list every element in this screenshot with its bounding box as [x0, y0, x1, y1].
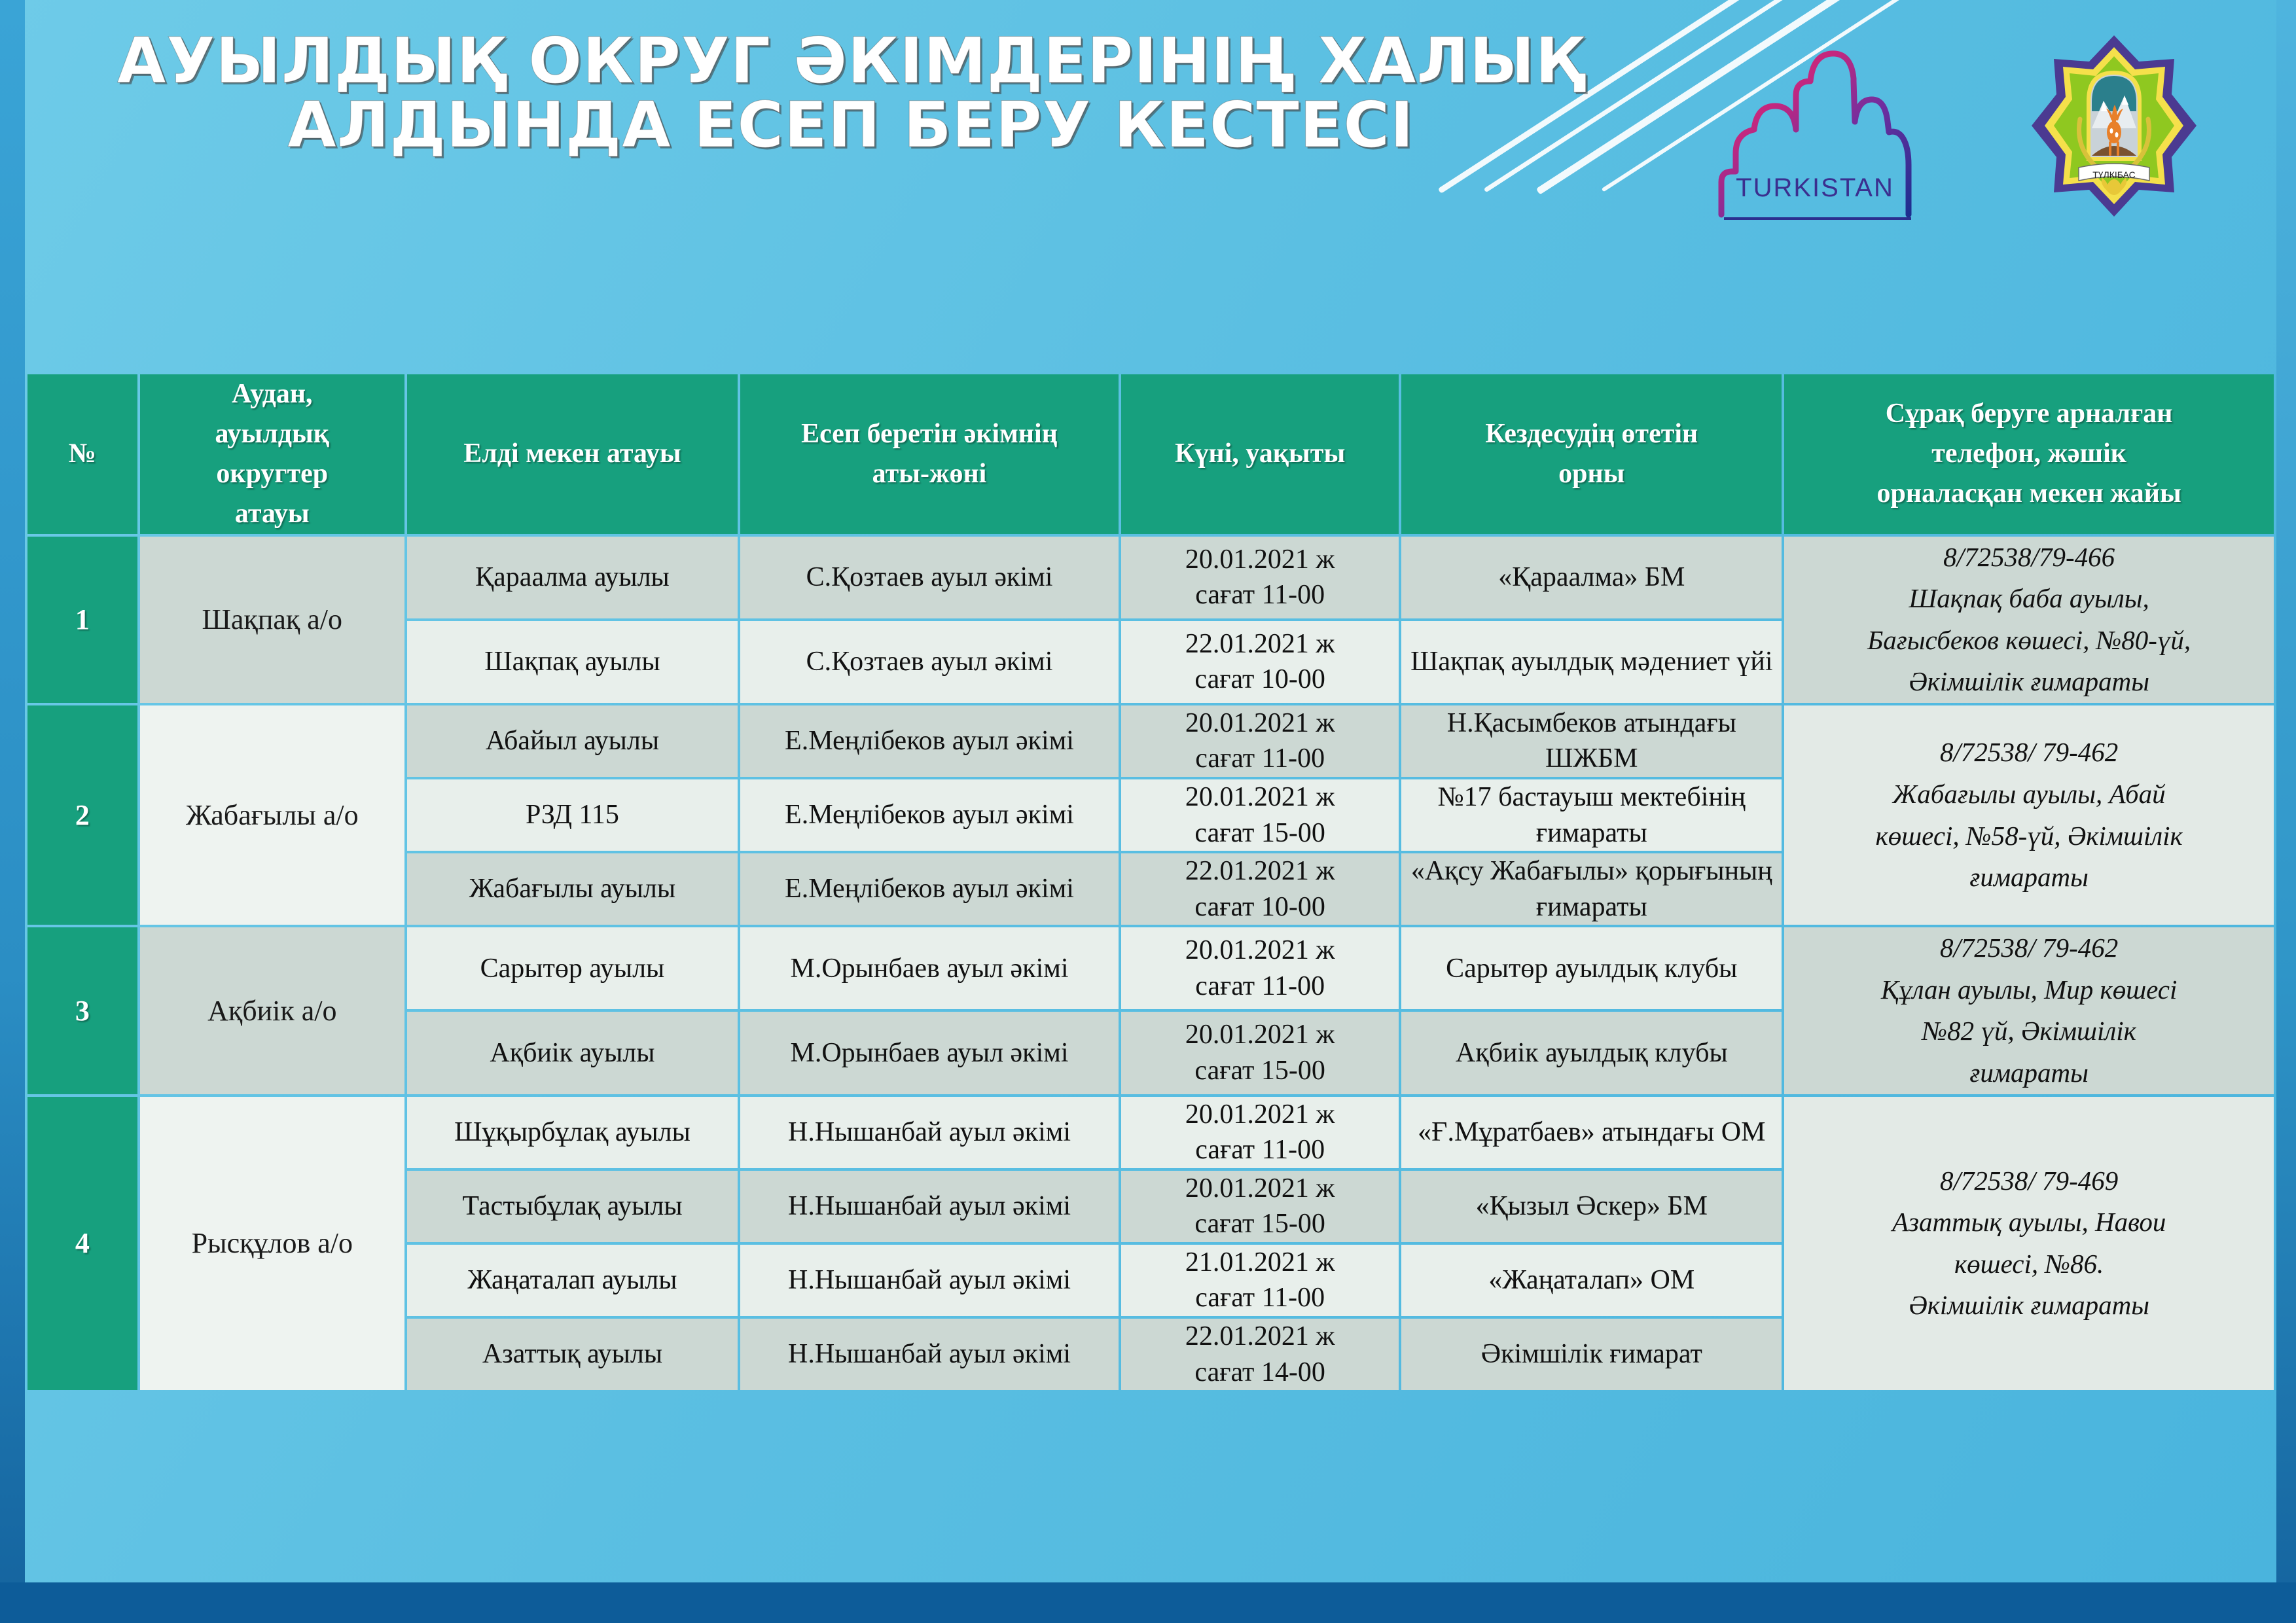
date-line: 20.01.2021 ж	[1185, 1099, 1335, 1130]
date-line: 22.01.2021 ж	[1185, 856, 1335, 886]
date-time-cell: 20.01.2021 жсағат 11-00	[1121, 1097, 1399, 1168]
time-line: сағат 11-00	[1195, 580, 1325, 610]
phone-number: 8/72538/ 79-469	[1940, 1166, 2118, 1196]
col-header-place-l1: Кездесудің өтетін	[1485, 419, 1698, 449]
phone-number: 8/72538/ 79-462	[1940, 737, 2118, 767]
meeting-place-cell: «Қараалма» БМ	[1401, 537, 1782, 618]
settlement-cell: РЗД 115	[407, 779, 738, 851]
time-line: сағат 10-00	[1194, 664, 1325, 694]
date-line: 20.01.2021 ж	[1185, 1020, 1335, 1050]
page-title-line-2: АЛДЫНДА ЕСЕП БЕРУ КЕСТЕСІ	[59, 94, 1643, 158]
settlement-cell: Азаттық ауылы	[407, 1319, 738, 1390]
col-header-okrug-l1: Аудан,	[232, 379, 313, 409]
date-line: 22.01.2021 ж	[1185, 1321, 1335, 1351]
time-line: сағат 15-00	[1194, 1056, 1325, 1086]
date-line: 20.01.2021 ж	[1185, 935, 1335, 965]
phone-address-cell: 8/72538/ 79-462Жабағылы ауылы, Абайкөшес…	[1784, 705, 2274, 925]
row-number-cell: 4	[27, 1097, 137, 1391]
settlement-cell: Абайыл ауылы	[407, 705, 738, 777]
meeting-place-cell: Әкімшілік ғимарат	[1401, 1319, 1782, 1390]
meeting-place-cell: «Қызыл Әскер» БМ	[1401, 1171, 1782, 1242]
settlement-cell: Қараалма ауылы	[407, 537, 738, 618]
okrug-name-cell: Шақпақ а/о	[140, 537, 404, 703]
date-time-cell: 21.01.2021 жсағат 11-00	[1121, 1245, 1399, 1316]
col-header-place: Кездесудің өтетін орны	[1401, 374, 1782, 534]
col-header-okrug-l4: атауы	[235, 499, 310, 529]
date-line: 20.01.2021 ж	[1185, 708, 1335, 738]
col-header-okrug-l3: округтер	[216, 459, 328, 489]
address-line: ғимараты	[1969, 1058, 2089, 1088]
address-line: Азаттық ауылы, Навои	[1892, 1207, 2166, 1237]
time-line: сағат 15-00	[1194, 818, 1325, 848]
date-time-cell: 22.01.2021 жсағат 10-00	[1121, 853, 1399, 925]
date-line: 20.01.2021 ж	[1185, 782, 1335, 812]
akim-name-cell: С.Қозтаев ауыл әкімі	[740, 537, 1119, 618]
phone-number: 8/72538/79-466	[1943, 542, 2115, 572]
time-line: сағат 11-00	[1195, 1135, 1325, 1165]
col-header-phone-l3: орналасқан мекен жайы	[1877, 478, 2181, 508]
okrug-name-cell: Ақбиік а/о	[140, 927, 404, 1094]
page-title: АУЫЛДЫҚ ОКРУГ ӘКІМДЕРІНІҢ ХАЛЫҚ АЛДЫНДА …	[59, 29, 1643, 158]
table-row: 4Рысқұлов а/оШұқырбұлақ ауылыН.Нышанбай …	[27, 1097, 2274, 1168]
col-header-phone-l2: телефон, жәшік	[1931, 438, 2126, 469]
phone-address-cell: 8/72538/79-466Шақпақ баба ауылы,Бағысбек…	[1784, 537, 2274, 703]
time-line: сағат 10-00	[1194, 892, 1325, 922]
date-time-cell: 20.01.2021 жсағат 15-00	[1121, 1171, 1399, 1242]
akim-name-cell: М.Орынбаев ауыл әкімі	[740, 927, 1119, 1009]
phone-address-cell: 8/72538/ 79-462Құлан ауылы, Мир көшесі№8…	[1784, 927, 2274, 1094]
settlement-cell: Шұқырбұлақ ауылы	[407, 1097, 738, 1168]
report-schedule-table: № Аудан, ауылдық округтер атауы Елді мек…	[25, 372, 2276, 1393]
address-line: ғимараты	[1969, 862, 2089, 892]
time-line: сағат 14-00	[1194, 1357, 1325, 1387]
meeting-place-cell: №17 бастауыш мектебінің ғимараты	[1401, 779, 1782, 851]
svg-text:ТҮЛКІБАС: ТҮЛКІБАС	[2092, 169, 2136, 180]
col-header-number: №	[27, 374, 137, 534]
meeting-place-cell: «Жаңаталап» ОМ	[1401, 1245, 1782, 1316]
akim-name-cell: Н.Нышанбай ауыл әкімі	[740, 1245, 1119, 1316]
col-header-akim-l1: Есеп беретін әкімнің	[801, 419, 1058, 449]
col-header-akim-l2: аты-жөні	[872, 459, 987, 489]
settlement-cell: Шақпақ ауылы	[407, 621, 738, 703]
meeting-place-cell: Ақбиік ауылдық клубы	[1401, 1012, 1782, 1094]
tulkibas-emblem-icon: ТҮЛКІБАС	[2029, 33, 2199, 219]
table-header: № Аудан, ауылдық округтер атауы Елді мек…	[27, 374, 2274, 534]
settlement-cell: Сарытөр ауылы	[407, 927, 738, 1009]
date-line: 21.01.2021 ж	[1185, 1247, 1335, 1277]
date-time-cell: 22.01.2021 жсағат 10-00	[1121, 621, 1399, 703]
date-time-cell: 20.01.2021 жсағат 11-00	[1121, 705, 1399, 777]
settlement-cell: Жабағылы ауылы	[407, 853, 738, 925]
row-number-cell: 2	[27, 705, 137, 925]
table-header-row: № Аудан, ауылдық округтер атауы Елді мек…	[27, 374, 2274, 534]
date-time-cell: 22.01.2021 жсағат 14-00	[1121, 1319, 1399, 1390]
okrug-name-cell: Рысқұлов а/о	[140, 1097, 404, 1391]
akim-name-cell: Е.Меңлібеков ауыл әкімі	[740, 705, 1119, 777]
meeting-place-cell: Шақпақ ауылдық мәдениет үйі	[1401, 621, 1782, 703]
col-header-phone-l1: Сұрақ беруге арналған	[1886, 399, 2173, 429]
date-line: 20.01.2021 ж	[1185, 1173, 1335, 1204]
address-line: Әкімшілік ғимараты	[1909, 1290, 2149, 1320]
col-header-akim: Есеп беретін әкімнің аты-жөні	[740, 374, 1119, 534]
akim-name-cell: Н.Нышанбай ауыл әкімі	[740, 1171, 1119, 1242]
address-line: Шақпақ баба ауылы,	[1909, 583, 2149, 613]
settlement-cell: Тастыбұлақ ауылы	[407, 1171, 738, 1242]
table-row: 3Ақбиік а/оСарытөр ауылыМ.Орынбаев ауыл …	[27, 927, 2274, 1009]
table-row: 1Шақпақ а/оҚараалма ауылыС.Қозтаев ауыл …	[27, 537, 2274, 618]
date-time-cell: 20.01.2021 жсағат 15-00	[1121, 1012, 1399, 1094]
date-line: 20.01.2021 ж	[1185, 544, 1335, 575]
date-time-cell: 20.01.2021 жсағат 15-00	[1121, 779, 1399, 851]
right-edge-bar	[2276, 0, 2296, 1623]
settlement-cell: Ақбиік ауылы	[407, 1012, 738, 1094]
akim-name-cell: Е.Меңлібеков ауыл әкімі	[740, 853, 1119, 925]
slide-canvas: АУЫЛДЫҚ ОКРУГ ӘКІМДЕРІНІҢ ХАЛЫҚ АЛДЫНДА …	[0, 0, 2296, 1623]
turkistan-wordmark: TURKISTAN	[1733, 173, 1897, 203]
okrug-name-cell: Жабағылы а/о	[140, 705, 404, 925]
meeting-place-cell: «Ғ.Мұратбаев» атындағы ОМ	[1401, 1097, 1782, 1168]
akim-name-cell: С.Қозтаев ауыл әкімі	[740, 621, 1119, 703]
address-line: Жабағылы ауылы, Абай	[1893, 779, 2166, 809]
settlement-cell: Жаңаталап ауылы	[407, 1245, 738, 1316]
col-header-phone: Сұрақ беруге арналған телефон, жәшік орн…	[1784, 374, 2274, 534]
left-edge-bar	[0, 0, 25, 1623]
meeting-place-cell: Н.Қасымбеков атындағы ШЖБМ	[1401, 705, 1782, 777]
col-header-date: Күні, уақыты	[1121, 374, 1399, 534]
row-number-cell: 1	[27, 537, 137, 703]
col-header-okrug: Аудан, ауылдық округтер атауы	[140, 374, 404, 534]
address-line: Құлан ауылы, Мир көшесі	[1881, 974, 2178, 1005]
akim-name-cell: М.Орынбаев ауыл әкімі	[740, 1012, 1119, 1094]
date-time-cell: 20.01.2021 жсағат 11-00	[1121, 537, 1399, 618]
time-line: сағат 11-00	[1195, 1283, 1325, 1313]
address-line: көшесі, №58-үй, Әкімшілік	[1876, 821, 2183, 851]
time-line: сағат 11-00	[1195, 971, 1325, 1001]
time-line: сағат 15-00	[1194, 1209, 1325, 1239]
akim-name-cell: Н.Нышанбай ауыл әкімі	[740, 1319, 1119, 1390]
address-line: Бағысбеков көшесі, №80-үй,	[1867, 625, 2191, 655]
col-header-settlement: Елді мекен атауы	[407, 374, 738, 534]
page-title-line-1: АУЫЛДЫҚ ОКРУГ ӘКІМДЕРІНІҢ ХАЛЫҚ	[59, 29, 1643, 94]
time-line: сағат 11-00	[1195, 743, 1325, 774]
phone-number: 8/72538/ 79-462	[1940, 933, 2118, 963]
date-line: 22.01.2021 ж	[1185, 629, 1335, 659]
akim-name-cell: Н.Нышанбай ауыл әкімі	[740, 1097, 1119, 1168]
table-row: 2Жабағылы а/оАбайыл ауылыЕ.Меңлібеков ау…	[27, 705, 2274, 777]
col-header-okrug-l2: ауылдық	[215, 419, 329, 449]
address-line: көшесі, №86.	[1954, 1249, 2104, 1279]
akim-name-cell: Е.Меңлібеков ауыл әкімі	[740, 779, 1119, 851]
meeting-place-cell: «Ақсу Жабағылы» қорығының ғимараты	[1401, 853, 1782, 925]
table-body: 1Шақпақ а/оҚараалма ауылыС.Қозтаев ауыл …	[27, 537, 2274, 1391]
address-line: №82 үй, Әкімшілік	[1922, 1016, 2136, 1046]
address-line: Әкімшілік ғимараты	[1909, 666, 2149, 696]
meeting-place-cell: Сарытөр ауылдық клубы	[1401, 927, 1782, 1009]
row-number-cell: 3	[27, 927, 137, 1094]
date-time-cell: 20.01.2021 жсағат 11-00	[1121, 927, 1399, 1009]
col-header-place-l2: орны	[1558, 459, 1624, 489]
phone-address-cell: 8/72538/ 79-469Азаттық ауылы, Навоикөшес…	[1784, 1097, 2274, 1391]
bottom-bar	[0, 1582, 2296, 1623]
